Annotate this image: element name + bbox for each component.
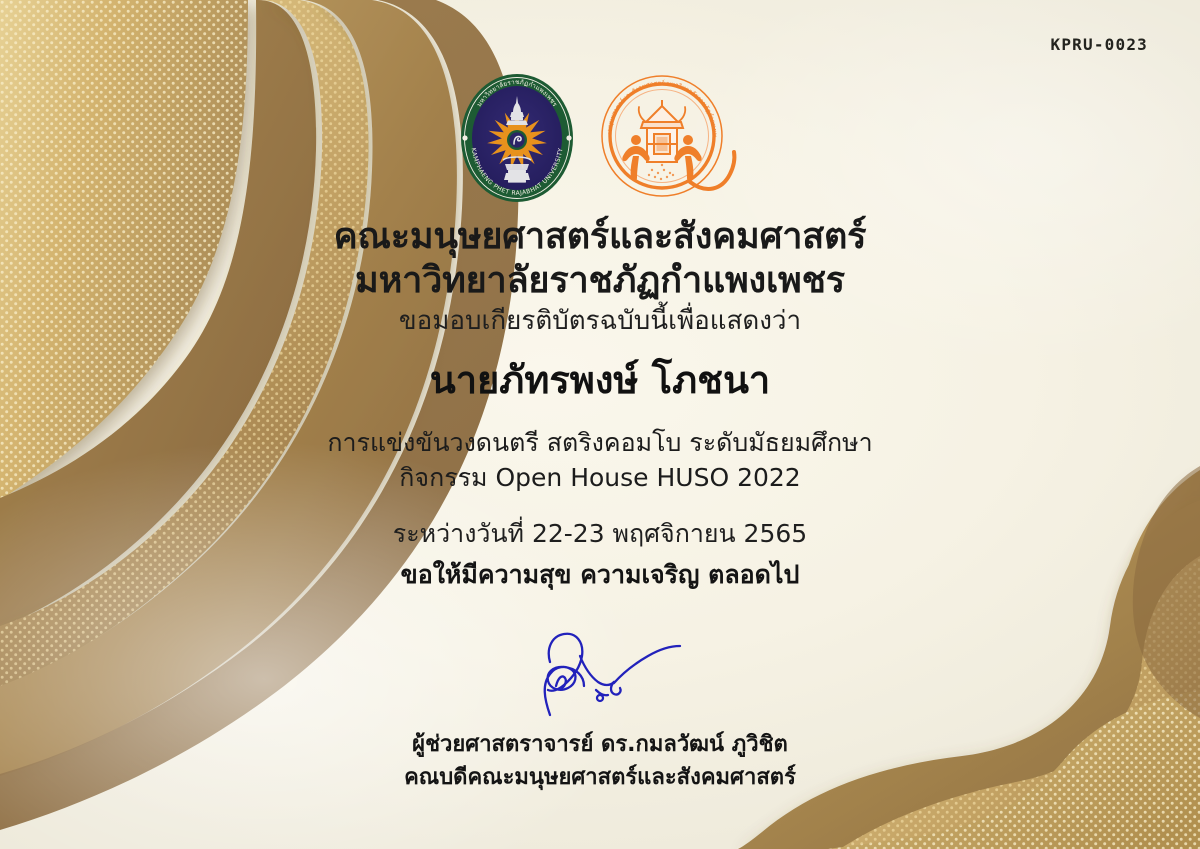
logo-row: มหาวิทยาลัยราชภัฏกำแพงเพชร KAMPHAENG PHE…	[0, 72, 1200, 206]
organization-line-1: คณะมนุษยศาสตร์และสังคมศาสตร์	[0, 218, 1200, 256]
organization-line-2: มหาวิทยาลัยราชภัฏกำแพงเพชร	[0, 262, 1200, 300]
event-line-2: กิจกรรม Open House HUSO 2022	[0, 465, 1200, 492]
event-line-1: การแข่งขันวงดนตรี สตริงคอมโบ ระดับมัธยมศ…	[0, 430, 1200, 457]
certificate-body: คณะมนุษยศาสตร์และสังคมศาสตร์ มหาวิทยาลัย…	[0, 218, 1200, 588]
signer-title: คณบดีคณะมนุษยศาสตร์และสังคมศาสตร์	[0, 761, 1200, 794]
kpru-university-seal-logo: มหาวิทยาลัยราชภัฏกำแพงเพชร KAMPHAENG PHE…	[458, 72, 576, 204]
signature-block: ผู้ช่วยศาสตราจารย์ ดร.กมลวัฒน์ ภูวิชิต ค…	[0, 612, 1200, 794]
certificate-page: KPRU-0023 มหาวิทยาลัยราชภัฏกำแพงเพชร	[0, 0, 1200, 849]
document-code: KPRU-0023	[1051, 35, 1149, 54]
recipient-name: นายภัทรพงษ์ โภชนา	[0, 360, 1200, 400]
signer-name: ผู้ช่วยศาสตราจารย์ ดร.กมลวัฒน์ ภูวิชิต	[0, 728, 1200, 761]
award-phrase: ขอมอบเกียรติบัตรฉบับนี้เพื่อแสดงว่า	[0, 308, 1200, 336]
huso-faculty-logo: คณะมนุษยศาสตร์และสังคมศาสตร์ มหาวิทยาลัย…	[590, 70, 742, 206]
signature-mark-icon	[510, 612, 690, 722]
event-date: ระหว่างวันที่ 22-23 พฤศจิกายน 2565	[0, 521, 1200, 548]
wish-message: ขอให้มีความสุข ความเจริญ ตลอดไป	[0, 562, 1200, 589]
